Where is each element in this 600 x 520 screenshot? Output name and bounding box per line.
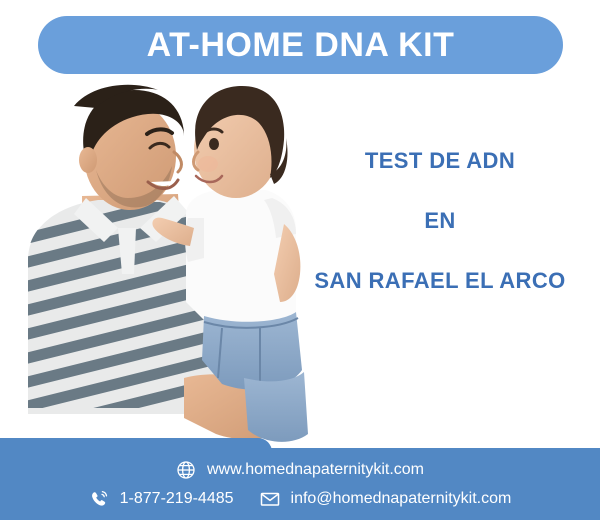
headline-line-2: EN bbox=[290, 210, 590, 232]
header-banner: AT-HOME DNA KIT bbox=[38, 16, 563, 74]
headline-line-3: SAN RAFAEL EL ARCO bbox=[290, 270, 590, 292]
footer-row-phone-email: 1-877-219-4485 info@homednapaternitykit.… bbox=[0, 484, 600, 513]
phone-label: 1-877-219-4485 bbox=[120, 491, 234, 507]
footer-contact-rows: www.homednapaternitykit.com 1-877-219-44… bbox=[0, 448, 600, 520]
globe-icon bbox=[176, 460, 196, 480]
website-label: www.homednapaternitykit.com bbox=[207, 462, 424, 478]
headline-line-1: TEST DE ADN bbox=[290, 150, 590, 172]
family-photo bbox=[8, 78, 318, 460]
headline-block: TEST DE ADN EN SAN RAFAEL EL ARCO bbox=[290, 150, 590, 292]
poster-root: AT-HOME DNA KIT TEST DE ADN EN SAN RAFAE… bbox=[0, 0, 600, 520]
contact-website[interactable]: www.homednapaternitykit.com bbox=[176, 460, 424, 480]
email-label: info@homednapaternitykit.com bbox=[291, 491, 512, 507]
envelope-icon bbox=[260, 489, 280, 509]
phone-icon bbox=[89, 489, 109, 509]
contact-phone[interactable]: 1-877-219-4485 bbox=[89, 489, 234, 509]
banner-title: AT-HOME DNA KIT bbox=[147, 28, 455, 62]
footer-row-website: www.homednapaternitykit.com bbox=[0, 455, 600, 484]
contact-email[interactable]: info@homednapaternitykit.com bbox=[260, 489, 512, 509]
